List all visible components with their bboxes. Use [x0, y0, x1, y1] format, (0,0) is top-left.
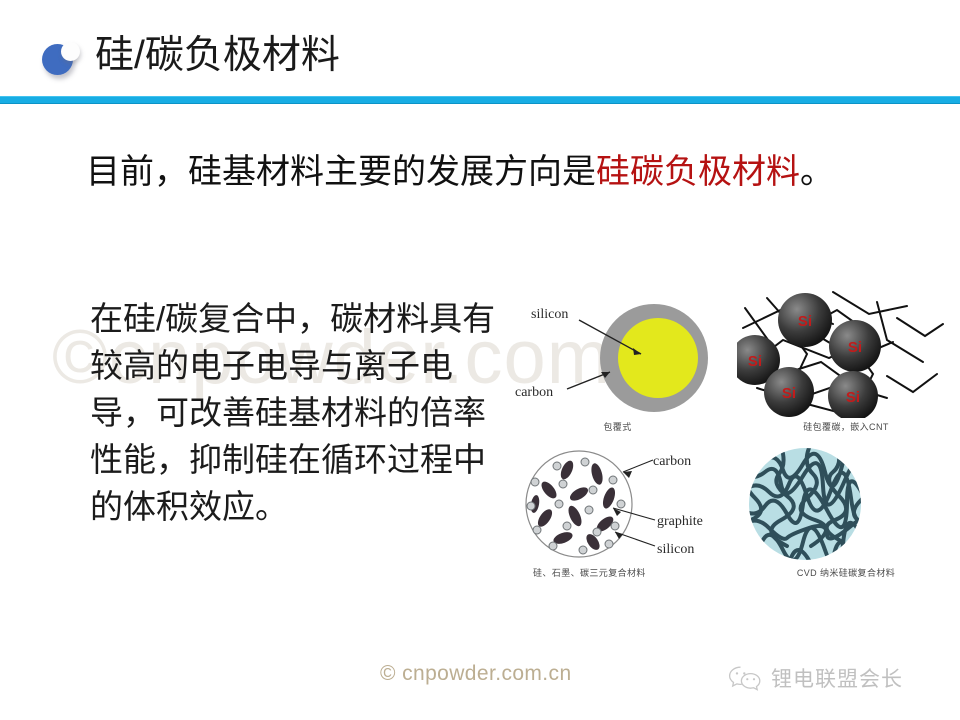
svg-text:Si: Si	[748, 353, 762, 370]
cvd-nano-illustration	[737, 446, 955, 571]
si-cnt-illustration: Si Si Si Si Si	[737, 288, 955, 418]
figure-caption-si-cnt: 硅包覆碳，嵌入CNT	[737, 420, 955, 433]
bullet-white-dot	[61, 42, 80, 61]
page-title: 硅/碳负极材料	[95, 32, 340, 80]
lead-statement: 目前，硅基材料主要的发展方向是硅碳负极材料。	[86, 148, 834, 196]
svg-text:Si: Si	[848, 339, 862, 356]
lead-highlight: 硅碳负极材料	[596, 153, 800, 191]
figure-caption-core-shell: 包覆式	[505, 420, 730, 433]
slide-header: 硅/碳负极材料	[0, 0, 960, 96]
ternary-composite-illustration	[505, 446, 730, 571]
footer-copyright: © cnpowder.com.cn	[380, 662, 572, 686]
figure-cvd-nano: CVD 纳米硅碳复合材料	[737, 446, 955, 588]
figure-si-cnt: Si Si Si Si Si 硅包覆碳，嵌入CNT	[737, 288, 955, 443]
figure-label-graphite: graphite	[657, 514, 703, 530]
figure-ternary-composite: carbon graphite silicon 硅、石墨、碳三元复合材料	[505, 446, 730, 588]
figure-label-carbon: carbon	[653, 454, 691, 470]
body-paragraph: 在硅/碳复合中，碳材料具有较高的电子电导与离子电导，可改善硅基材料的倍率性能，抑…	[90, 295, 500, 530]
figure-label-silicon: silicon	[657, 542, 694, 558]
svg-text:Si: Si	[782, 385, 796, 402]
wechat-icon	[728, 665, 762, 692]
figure-group: silicon carbon 包覆式	[505, 288, 955, 588]
lead-suffix: 。	[800, 153, 834, 191]
slide: 硅/碳负极材料 ©cnpowder.com 目前，硅基材料主要的发展方向是硅碳负…	[0, 0, 960, 720]
wechat-account-label: 锂电联盟会长	[771, 663, 903, 693]
svg-text:Si: Si	[798, 313, 812, 330]
figure-core-shell: silicon carbon 包覆式	[505, 288, 730, 443]
figure-label-silicon: silicon	[531, 307, 568, 323]
lead-prefix: 目前，硅基材料主要的发展方向是	[86, 153, 596, 191]
figure-caption-cvd: CVD 纳米硅碳复合材料	[737, 566, 955, 579]
wechat-badge: 锂电联盟会长	[728, 660, 903, 696]
svg-text:Si: Si	[846, 389, 860, 406]
figure-caption-ternary: 硅、石墨、碳三元复合材料	[505, 566, 758, 579]
header-divider	[0, 96, 960, 104]
bullet-circle-icon	[42, 40, 84, 78]
figure-label-carbon: carbon	[515, 385, 553, 401]
